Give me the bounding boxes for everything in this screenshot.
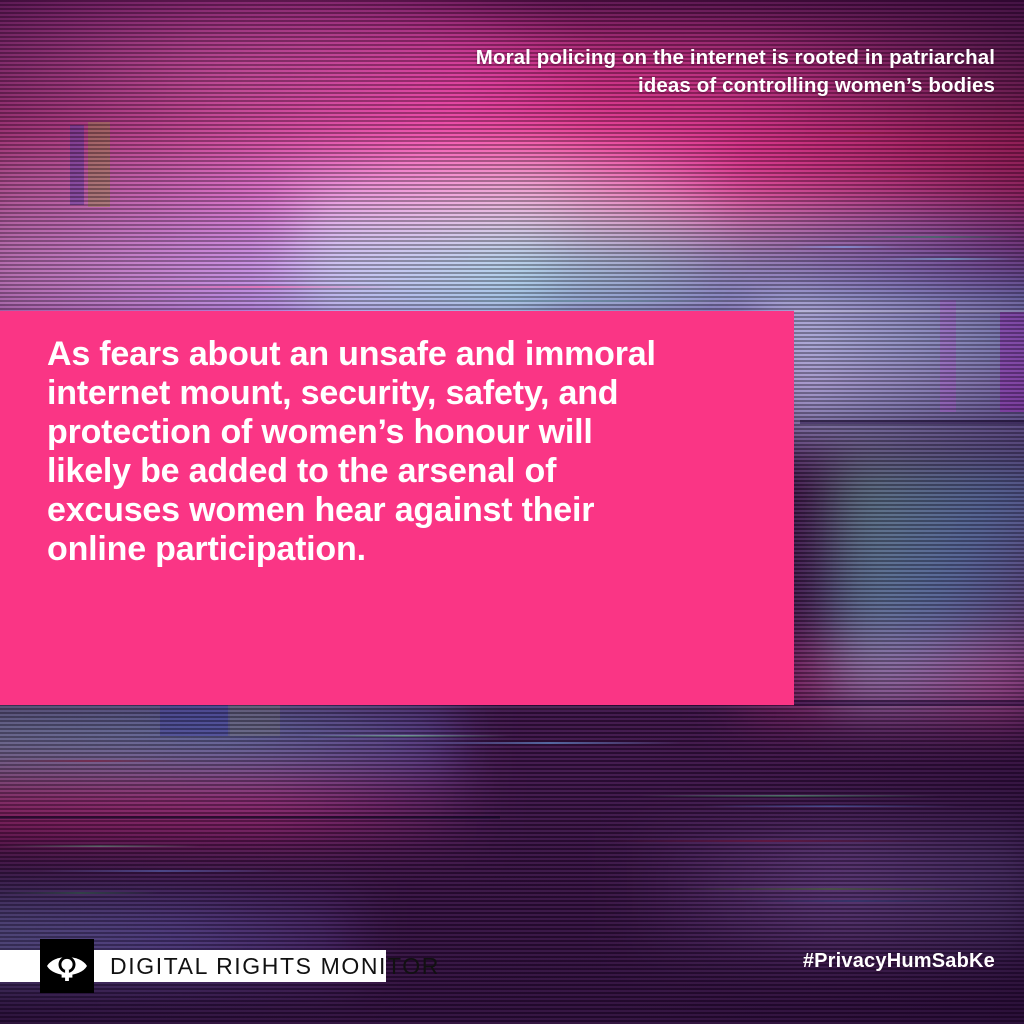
quote-line: internet mount, security, safety, and — [47, 374, 747, 413]
glitch-streak — [0, 760, 180, 762]
glitch-blob — [0, 770, 480, 840]
glitch-streak — [0, 892, 160, 894]
glitch-blob — [620, 830, 1024, 950]
quote-line: As fears about an unsafe and immoral — [47, 335, 747, 374]
glitch-blob — [760, 300, 1024, 435]
quote-line: likely be added to the arsenal of — [47, 452, 747, 491]
glitch-streak — [430, 300, 730, 302]
glitch-streak — [0, 845, 200, 847]
quote-line: online participation. — [47, 530, 747, 569]
glitch-slice — [794, 310, 1024, 313]
headline-line-1: Moral policing on the internet is rooted… — [275, 44, 995, 72]
glitch-slice — [228, 700, 280, 736]
glitch-streak — [700, 805, 960, 807]
quote-line: protection of women’s honour will — [47, 413, 747, 452]
glitch-slice — [0, 706, 1024, 710]
glitch-slice — [940, 300, 956, 412]
logo-wordmark: DIGITAL RIGHTS MONITOR — [110, 950, 440, 982]
glitch-streak — [880, 258, 1020, 260]
glitch-streak — [850, 236, 1020, 238]
glitch-slice — [70, 125, 84, 205]
glitch-slice — [1000, 312, 1024, 412]
glitch-streak — [40, 870, 280, 872]
glitch-streak — [800, 132, 920, 134]
social-graphic-canvas: Moral policing on the internet is rooted… — [0, 0, 1024, 1024]
glitch-streak — [740, 900, 970, 902]
glitch-streak — [820, 176, 970, 178]
glitch-streak — [120, 286, 400, 288]
glitch-streak — [600, 840, 940, 842]
glitch-streak — [300, 735, 510, 737]
eye-venus-icon — [40, 939, 94, 993]
quote-text: As fears about an unsafe and immoral int… — [47, 335, 747, 569]
glitch-streak — [420, 742, 680, 744]
glitch-streak — [680, 888, 980, 890]
quote-panel: As fears about an unsafe and immoral int… — [0, 311, 794, 705]
glitch-slice — [0, 816, 500, 819]
glitch-streak — [790, 246, 900, 248]
glitch-slice — [800, 420, 1024, 424]
headline: Moral policing on the internet is rooted… — [275, 44, 995, 100]
glitch-slice — [88, 122, 110, 207]
headline-line-2: ideas of controlling women’s bodies — [275, 72, 995, 100]
campaign-hashtag: #PrivacyHumSabKe — [803, 950, 995, 973]
quote-line: excuses women hear against their — [47, 491, 747, 530]
glitch-streak — [640, 795, 940, 797]
glitch-slice — [160, 700, 230, 736]
